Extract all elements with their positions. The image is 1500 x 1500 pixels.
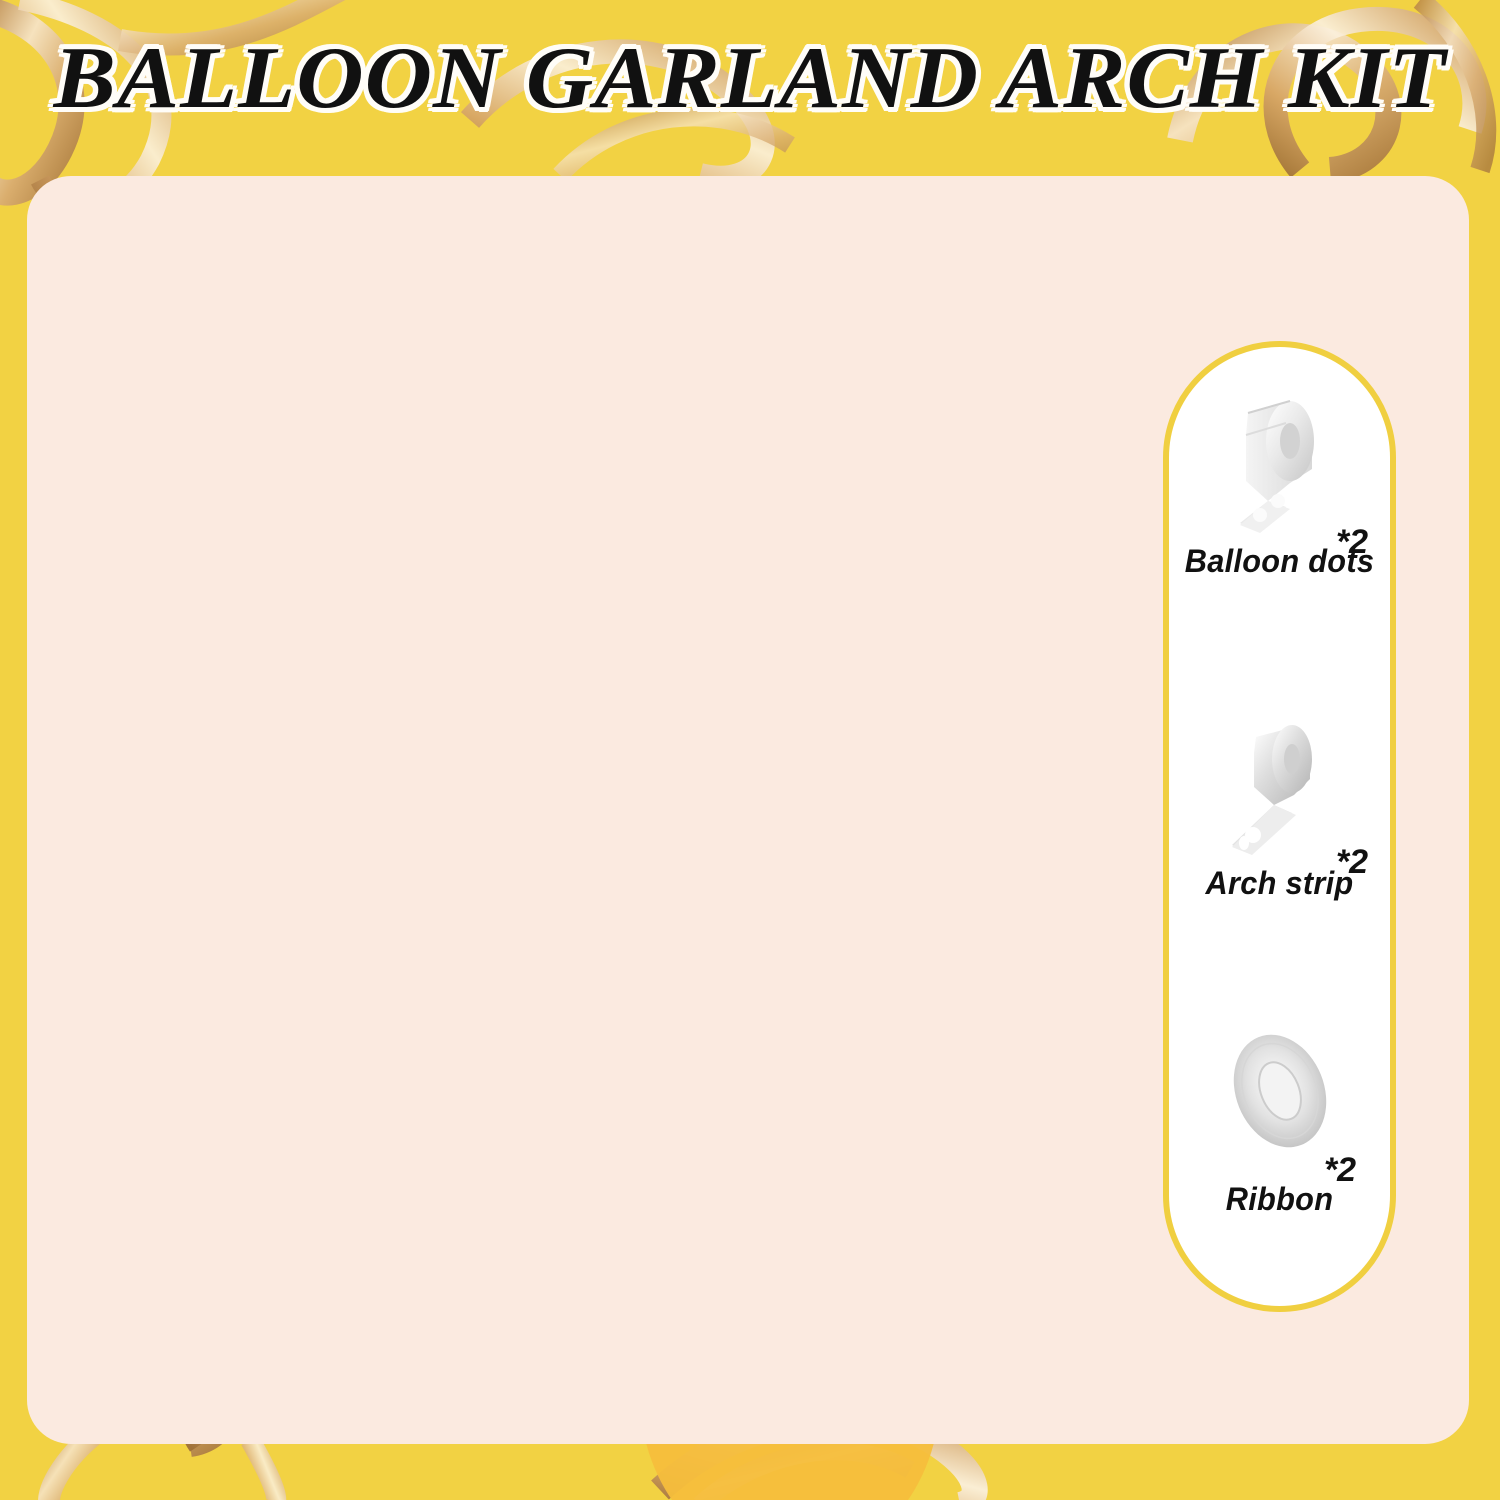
accessory-arch-strip: *2 Arch strip [1169,695,1390,902]
accessory-balloon-dots: *2 Balloon dots [1169,373,1390,580]
accessory-name: Arch strip [1173,865,1385,902]
accessories-panel: *2 Balloon dots *2 [1163,341,1396,1312]
accessory-ribbon: *2 Ribbon [1169,1011,1390,1218]
ribbon-spool-icon [1169,1011,1390,1181]
page-title: BALLOON GARLAND ARCH KIT [0,18,1500,138]
arch-strip-roll-icon [1169,695,1390,865]
accessory-name: Balloon dots [1173,543,1385,580]
tape-roll-dots-icon [1169,373,1390,543]
page-title-text: BALLOON GARLAND ARCH KIT [54,28,1447,129]
accessory-name: Ribbon [1173,1181,1385,1218]
